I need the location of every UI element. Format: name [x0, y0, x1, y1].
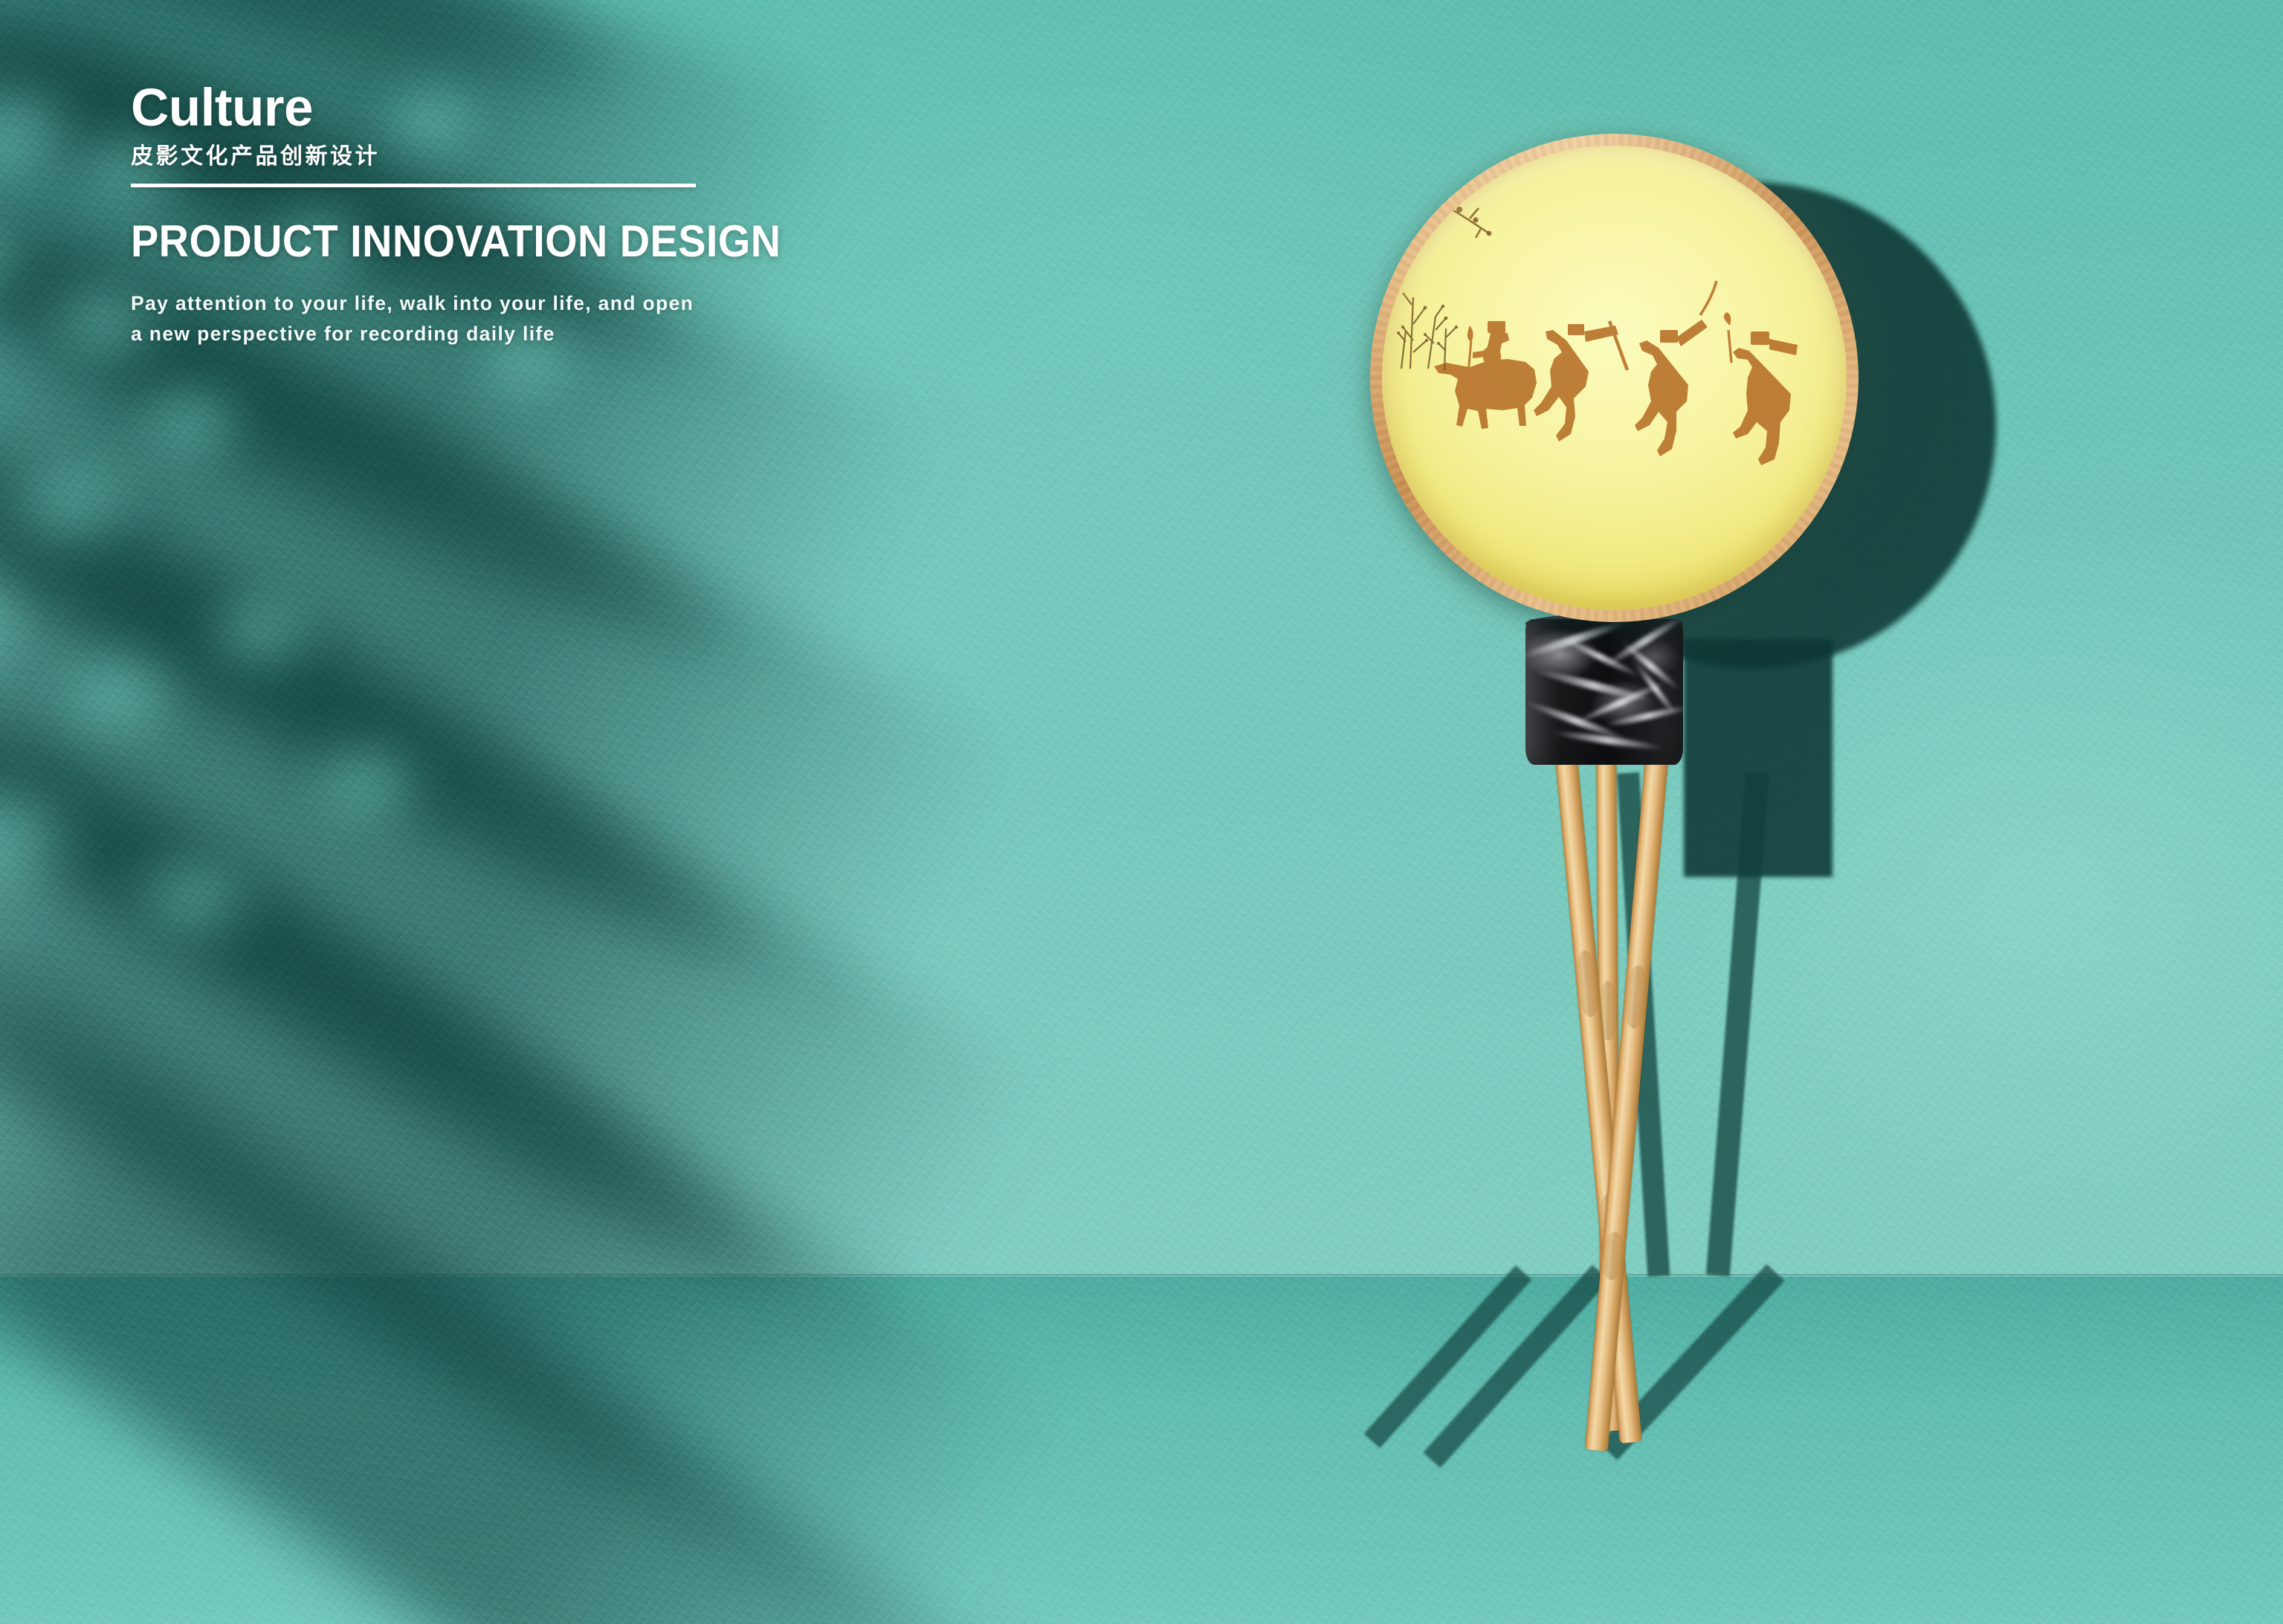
main-title: PRODUCT INNOVATION DESIGN	[131, 219, 1030, 264]
divider-rule	[131, 184, 696, 187]
chinese-subtitle: 皮影文化产品创新设计	[131, 146, 1097, 168]
body-copy: Pay attention to your life, walk into yo…	[131, 288, 1097, 349]
page-title: Culture	[131, 82, 1097, 135]
floor-surface	[0, 1277, 2283, 1624]
body-line-1: Pay attention to your life, walk into yo…	[131, 288, 1097, 319]
body-line-2: a new perspective for recording daily li…	[131, 319, 1097, 349]
poster-text-block: Culture 皮影文化产品创新设计 PRODUCT INNOVATION DE…	[131, 82, 1097, 349]
poster-scene: Culture 皮影文化产品创新设计 PRODUCT INNOVATION DE…	[0, 0, 2283, 1624]
wall-floor-junction	[0, 1274, 2283, 1278]
